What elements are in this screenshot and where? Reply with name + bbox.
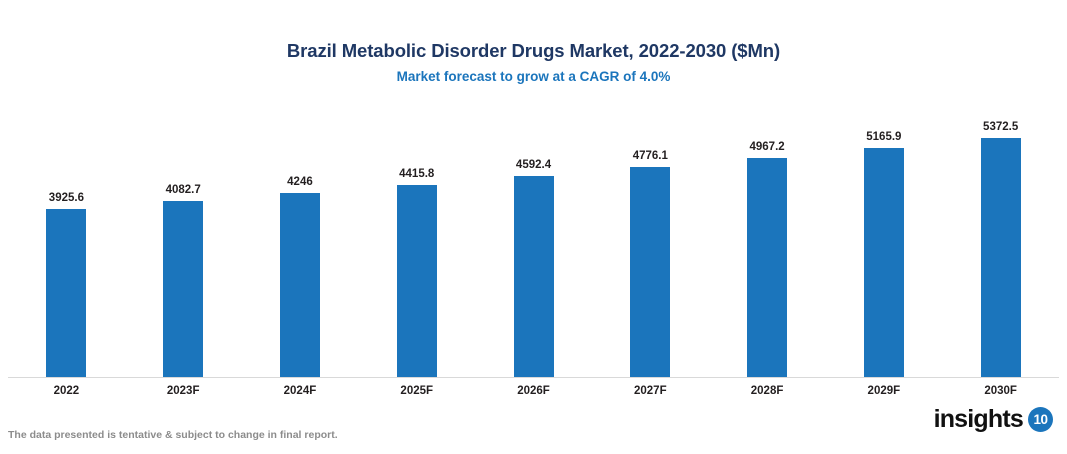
x-tick-label: 2030F <box>984 385 1017 397</box>
bar-2026F[interactable] <box>514 176 554 377</box>
cat-slot: 2030F <box>942 381 1059 399</box>
cat-slot: 2025F <box>358 381 475 399</box>
bar-value-label: 5165.9 <box>866 131 901 144</box>
cat-slot: 2029F <box>825 381 942 399</box>
bar-value-label: 4967.2 <box>749 141 784 154</box>
bar-2024F[interactable] <box>280 193 320 377</box>
cat-slot: 2023F <box>125 381 242 399</box>
bar-series: 3925.6 4082.7 4246 4415.8 4592.4 4776.1 <box>8 104 1059 377</box>
bar-2029F[interactable] <box>864 148 904 377</box>
bar-2022[interactable] <box>46 209 86 377</box>
x-tick-label: 2027F <box>634 385 667 397</box>
bar-slot: 4082.7 <box>125 104 242 377</box>
bar-value-label: 4246 <box>287 176 313 189</box>
bar-value-label: 4082.7 <box>166 184 201 197</box>
x-tick-label: 2029F <box>868 385 901 397</box>
chart-title: Brazil Metabolic Disorder Drugs Market, … <box>0 40 1067 62</box>
cat-slot: 2022 <box>8 381 125 399</box>
cat-slot: 2024F <box>242 381 359 399</box>
bar-2023F[interactable] <box>163 201 203 377</box>
x-tick-label: 2025F <box>400 385 433 397</box>
brand-wordmark: insights <box>934 406 1023 433</box>
bar-2028F[interactable] <box>747 158 787 377</box>
x-axis-line <box>8 377 1059 378</box>
x-tick-label: 2023F <box>167 385 200 397</box>
bar-value-label: 4776.1 <box>633 150 668 163</box>
bar-slot: 3925.6 <box>8 104 125 377</box>
x-tick-label: 2022 <box>54 385 80 397</box>
cat-slot: 2026F <box>475 381 592 399</box>
brand-badge-icon: 10 <box>1028 407 1053 432</box>
bar-value-label: 5372.5 <box>983 121 1018 134</box>
bar-slot: 4967.2 <box>709 104 826 377</box>
x-tick-label: 2028F <box>751 385 784 397</box>
chart-subtitle: Market forecast to grow at a CAGR of 4.0… <box>0 68 1067 86</box>
x-tick-label: 2024F <box>284 385 317 397</box>
bar-slot: 5165.9 <box>825 104 942 377</box>
bar-2030F[interactable] <box>981 138 1021 377</box>
bar-slot: 5372.5 <box>942 104 1059 377</box>
chart-header: Brazil Metabolic Disorder Drugs Market, … <box>0 40 1067 86</box>
chart-container: Brazil Metabolic Disorder Drugs Market, … <box>0 0 1067 454</box>
x-axis-labels: 2022 2023F 2024F 2025F 2026F 2027F 2028F… <box>8 381 1059 399</box>
bar-slot: 4776.1 <box>592 104 709 377</box>
bar-slot: 4415.8 <box>358 104 475 377</box>
bar-2027F[interactable] <box>630 167 670 377</box>
bar-slot: 4592.4 <box>475 104 592 377</box>
plot-area: 3925.6 4082.7 4246 4415.8 4592.4 4776.1 <box>8 104 1059 377</box>
bar-value-label: 4592.4 <box>516 159 551 172</box>
bar-value-label: 3925.6 <box>49 192 84 205</box>
cat-slot: 2028F <box>709 381 826 399</box>
disclaimer-text: The data presented is tentative & subjec… <box>8 428 338 442</box>
bar-2025F[interactable] <box>397 185 437 377</box>
insights10-logo: insights 10 <box>934 406 1053 433</box>
bar-slot: 4246 <box>242 104 359 377</box>
cat-slot: 2027F <box>592 381 709 399</box>
bar-value-label: 4415.8 <box>399 168 434 181</box>
x-tick-label: 2026F <box>517 385 550 397</box>
